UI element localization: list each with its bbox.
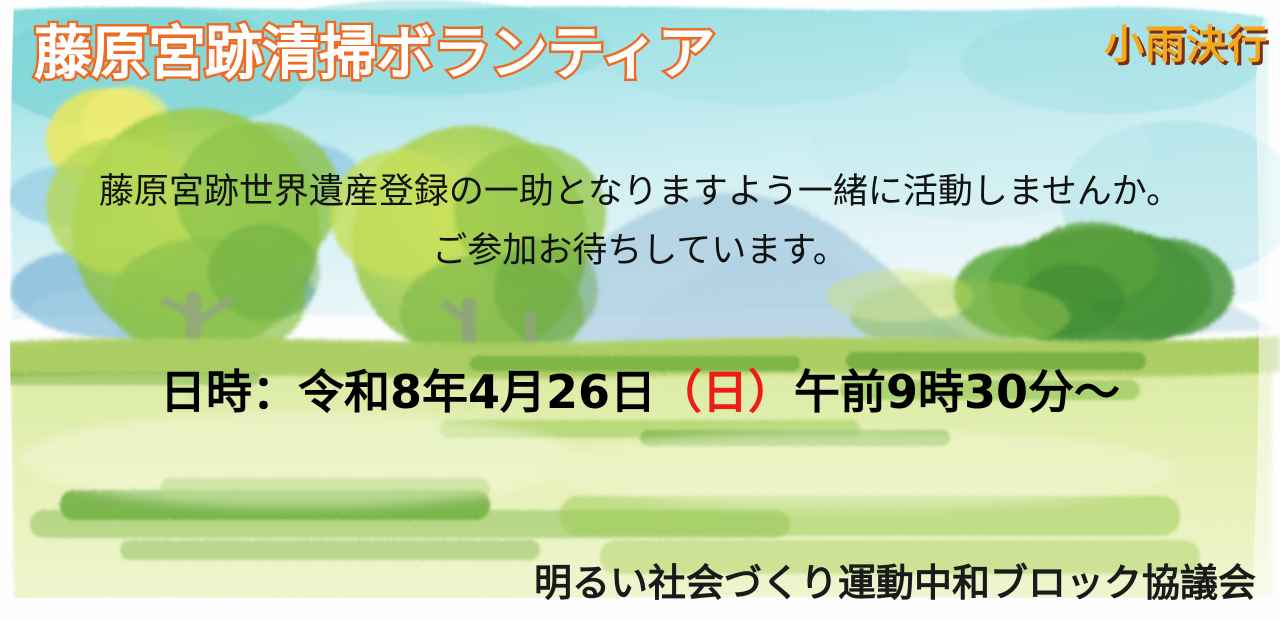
poster-canvas: 藤原宮跡清掃ボランティア 藤原宮跡清掃ボランティア 小雨決行 藤原宮跡世界遺産登… xyxy=(0,0,1280,620)
text-layer: 藤原宮跡清掃ボランティア 藤原宮跡清掃ボランティア 小雨決行 藤原宮跡世界遺産登… xyxy=(0,0,1280,620)
datetime-line: 日時：令和8年4月26日（日）午前9時30分〜 xyxy=(0,356,1280,422)
lead-line-2: ご参加お待ちしています。 xyxy=(0,222,1280,273)
datetime-time: 午前9時30分〜 xyxy=(794,365,1120,419)
datetime-weekday: （日） xyxy=(656,365,794,419)
lead-line-1: 藤原宮跡世界遺産登録の一助となりますよう一緒に活動しませんか。 xyxy=(0,163,1280,214)
poster-title: 藤原宮跡清掃ボランティア xyxy=(34,6,715,90)
organizer-name: 明るい社会づくり運動中和ブロック協議会 xyxy=(534,552,1256,607)
rain-policy-badge: 小雨決行 xyxy=(1104,12,1268,70)
datetime-label: 日時： xyxy=(160,365,298,419)
datetime-date: 令和8年4月26日 xyxy=(298,365,656,419)
